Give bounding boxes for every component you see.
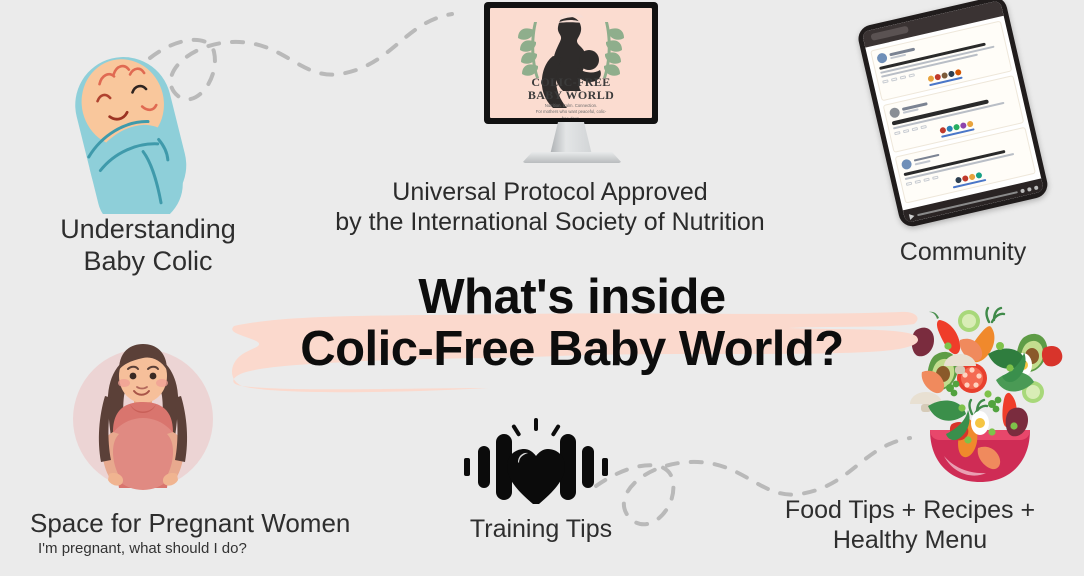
tablet-body bbox=[856, 0, 1050, 229]
tablet-screen bbox=[862, 0, 1044, 223]
label-pregnant-subtitle: I'm pregnant, what should I do? bbox=[38, 540, 388, 558]
monitor-stand-base bbox=[522, 152, 622, 163]
monitor-stand-neck bbox=[546, 122, 596, 155]
fullscreen-icon[interactable] bbox=[1034, 185, 1039, 190]
label-food-tips: Food Tips + Recipes + Healthy Menu bbox=[770, 496, 1050, 555]
monitor-bezel: COLIC-FREE BABY WORLD Nutrition. Calm. C… bbox=[484, 2, 658, 124]
logo-tagline: Nutrition. Calm. Connection. For mothers… bbox=[496, 103, 646, 118]
label-universal-protocol: Universal Protocol Approved by the Inter… bbox=[300, 178, 800, 237]
play-icon[interactable] bbox=[909, 213, 915, 220]
label-training-tips: Training Tips bbox=[436, 515, 646, 545]
headline-block: What's inside Colic-Free Baby World? bbox=[212, 268, 932, 400]
gear-icon[interactable] bbox=[1027, 187, 1032, 192]
pregnant-woman-illustration bbox=[60, 336, 226, 502]
label-community: Community bbox=[878, 238, 1048, 268]
label-space-for-pregnant-women: Space for Pregnant Women bbox=[30, 508, 380, 539]
dumbbell-heart-icon bbox=[452, 418, 620, 518]
page-headline: What's inside Colic-Free Baby World? bbox=[212, 268, 932, 376]
swaddled-baby-illustration bbox=[56, 48, 222, 214]
monitor-screen: COLIC-FREE BABY WORLD Nutrition. Calm. C… bbox=[490, 8, 652, 118]
desktop-monitor: COLIC-FREE BABY WORLD Nutrition. Calm. C… bbox=[484, 2, 660, 170]
tablet-device bbox=[833, 0, 1079, 250]
infographic-canvas: COLIC-FREE BABY WORLD Nutrition. Calm. C… bbox=[0, 0, 1084, 576]
volume-icon[interactable] bbox=[1020, 189, 1025, 194]
logo-title-line2: BABY WORLD bbox=[490, 88, 652, 103]
